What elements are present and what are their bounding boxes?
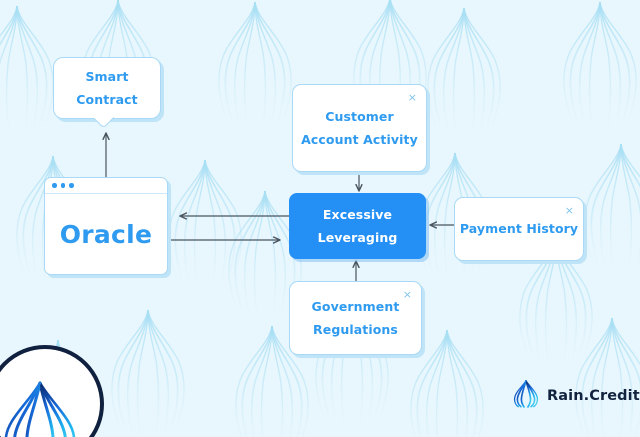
customer-account-activity-label: Customer Account Activity (293, 105, 426, 151)
node-oracle[interactable]: Oracle (44, 177, 168, 275)
smart-contract-label-wrap: Smart Contract (54, 58, 160, 118)
node-government-regulations[interactable]: × Government Regulations (289, 281, 422, 355)
brand-name: Rain.Credit (547, 388, 640, 404)
brand-circle-badge (0, 345, 104, 437)
node-payment-history[interactable]: × Payment History (454, 197, 584, 261)
payment-history-label-wrap: Payment History (455, 198, 583, 260)
oracle-window-titlebar (45, 178, 167, 194)
speech-bubble-tail (94, 117, 114, 129)
government-regulations-label-wrap: Government Regulations (290, 282, 421, 354)
diagram-canvas: Smart Contract Oracle × Customer Account… (0, 0, 640, 437)
node-customer-account-activity[interactable]: × Customer Account Activity (292, 84, 427, 172)
excessive-leveraging-label-wrap: Excessive Leveraging (289, 193, 426, 259)
government-regulations-label: Government Regulations (290, 295, 421, 341)
raindrop-icon (513, 378, 539, 414)
window-dot-icon (69, 183, 74, 188)
smart-contract-label: Smart Contract (54, 65, 160, 111)
payment-history-label: Payment History (455, 217, 583, 240)
excessive-leveraging-label: Excessive Leveraging (289, 203, 426, 249)
raindrop-icon (0, 377, 80, 437)
oracle-label: Oracle (45, 194, 167, 274)
window-dot-icon (52, 183, 57, 188)
node-excessive-leveraging[interactable]: Excessive Leveraging (289, 193, 426, 259)
customer-activity-label-wrap: Customer Account Activity (293, 85, 426, 171)
footer-brand-logo: Rain.Credit (513, 378, 640, 414)
window-dot-icon (61, 183, 66, 188)
node-smart-contract[interactable]: Smart Contract (53, 57, 161, 119)
